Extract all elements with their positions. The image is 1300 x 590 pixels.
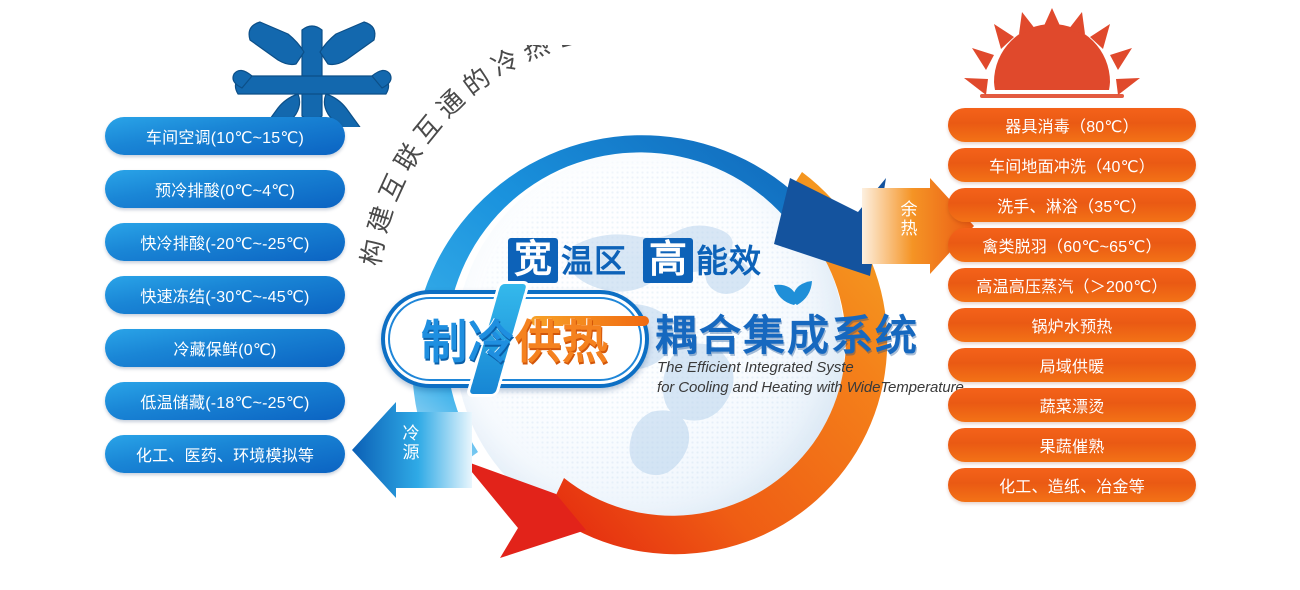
- heat-application-item-6[interactable]: 局域供暖: [948, 348, 1196, 382]
- heat-application-item-7[interactable]: 蔬菜漂烫: [948, 388, 1196, 422]
- badge-text-cooling: 制冷: [421, 306, 515, 372]
- leaf-icon: [772, 272, 820, 306]
- heat-application-item-2[interactable]: 洗手、淋浴（35℃）: [948, 188, 1196, 222]
- sun-icon: [962, 6, 1142, 111]
- cold-source-arrow: 冷源: [352, 402, 472, 498]
- cold-application-item-1[interactable]: 预冷排酸(0℃~4℃): [105, 170, 345, 208]
- headline-boxed-high: 高: [643, 238, 693, 283]
- heat-application-item-3[interactable]: 禽类脱羽（60℃~65℃）: [948, 228, 1196, 262]
- cold-application-item-3[interactable]: 快速冻结(-30℃~-45℃): [105, 276, 345, 314]
- cold-application-item-2[interactable]: 快冷排酸(-20℃~-25℃): [105, 223, 345, 261]
- cold-source-label: 冷源: [400, 424, 422, 462]
- heat-application-item-8[interactable]: 果蔬催熟: [948, 428, 1196, 462]
- cold-application-item-4[interactable]: 冷藏保鲜(0℃): [105, 329, 345, 367]
- heat-application-item-4[interactable]: 高温高压蒸汽（＞200℃）: [948, 268, 1196, 302]
- arc-headline-text: 构建互联互通的冷热世界: [356, 45, 623, 268]
- system-title: 耦合集成系统: [655, 302, 919, 363]
- heat-application-item-0[interactable]: 器具消毒（80℃）: [948, 108, 1196, 142]
- headline-keywords: 宽 温区 高 能效: [508, 238, 762, 283]
- badge-text-heating: 供热: [515, 306, 609, 372]
- english-subtitle-line2: for Cooling and Heating with WideTempera…: [657, 378, 957, 398]
- badge-text: 制冷 供热: [381, 290, 649, 388]
- heat-application-list: 器具消毒（80℃）车间地面冲洗（40℃）洗手、淋浴（35℃）禽类脱羽（60℃~6…: [948, 108, 1196, 508]
- heat-application-item-5[interactable]: 锅炉水预热: [948, 308, 1196, 342]
- headline-boxed-wide: 宽: [508, 238, 558, 283]
- english-subtitle-line1: The Efficient Integrated Syste: [657, 358, 957, 378]
- waste-heat-label: 余热: [898, 200, 920, 238]
- headline-plain-efficiency: 能效: [696, 245, 762, 277]
- cold-application-item-0[interactable]: 车间空调(10℃~15℃): [105, 117, 345, 155]
- cold-application-list: 车间空调(10℃~15℃)预冷排酸(0℃~4℃)快冷排酸(-20℃~-25℃)快…: [105, 117, 345, 488]
- heat-application-item-9[interactable]: 化工、造纸、冶金等: [948, 468, 1196, 502]
- infographic-canvas: 构建互联互通的冷热世界: [0, 0, 1300, 590]
- brand-badge: 制冷 供热: [381, 290, 649, 388]
- english-subtitle: The Efficient Integrated Syste for Cooli…: [657, 358, 957, 398]
- red-arrow-icon: [462, 460, 586, 558]
- heat-application-item-1[interactable]: 车间地面冲洗（40℃）: [948, 148, 1196, 182]
- headline-plain-tempzone: 温区: [561, 245, 627, 277]
- snowflake-icon: [232, 12, 392, 127]
- cold-application-item-6[interactable]: 化工、医药、环境模拟等: [105, 435, 345, 473]
- cold-application-item-5[interactable]: 低温储藏(-18℃~-25℃): [105, 382, 345, 420]
